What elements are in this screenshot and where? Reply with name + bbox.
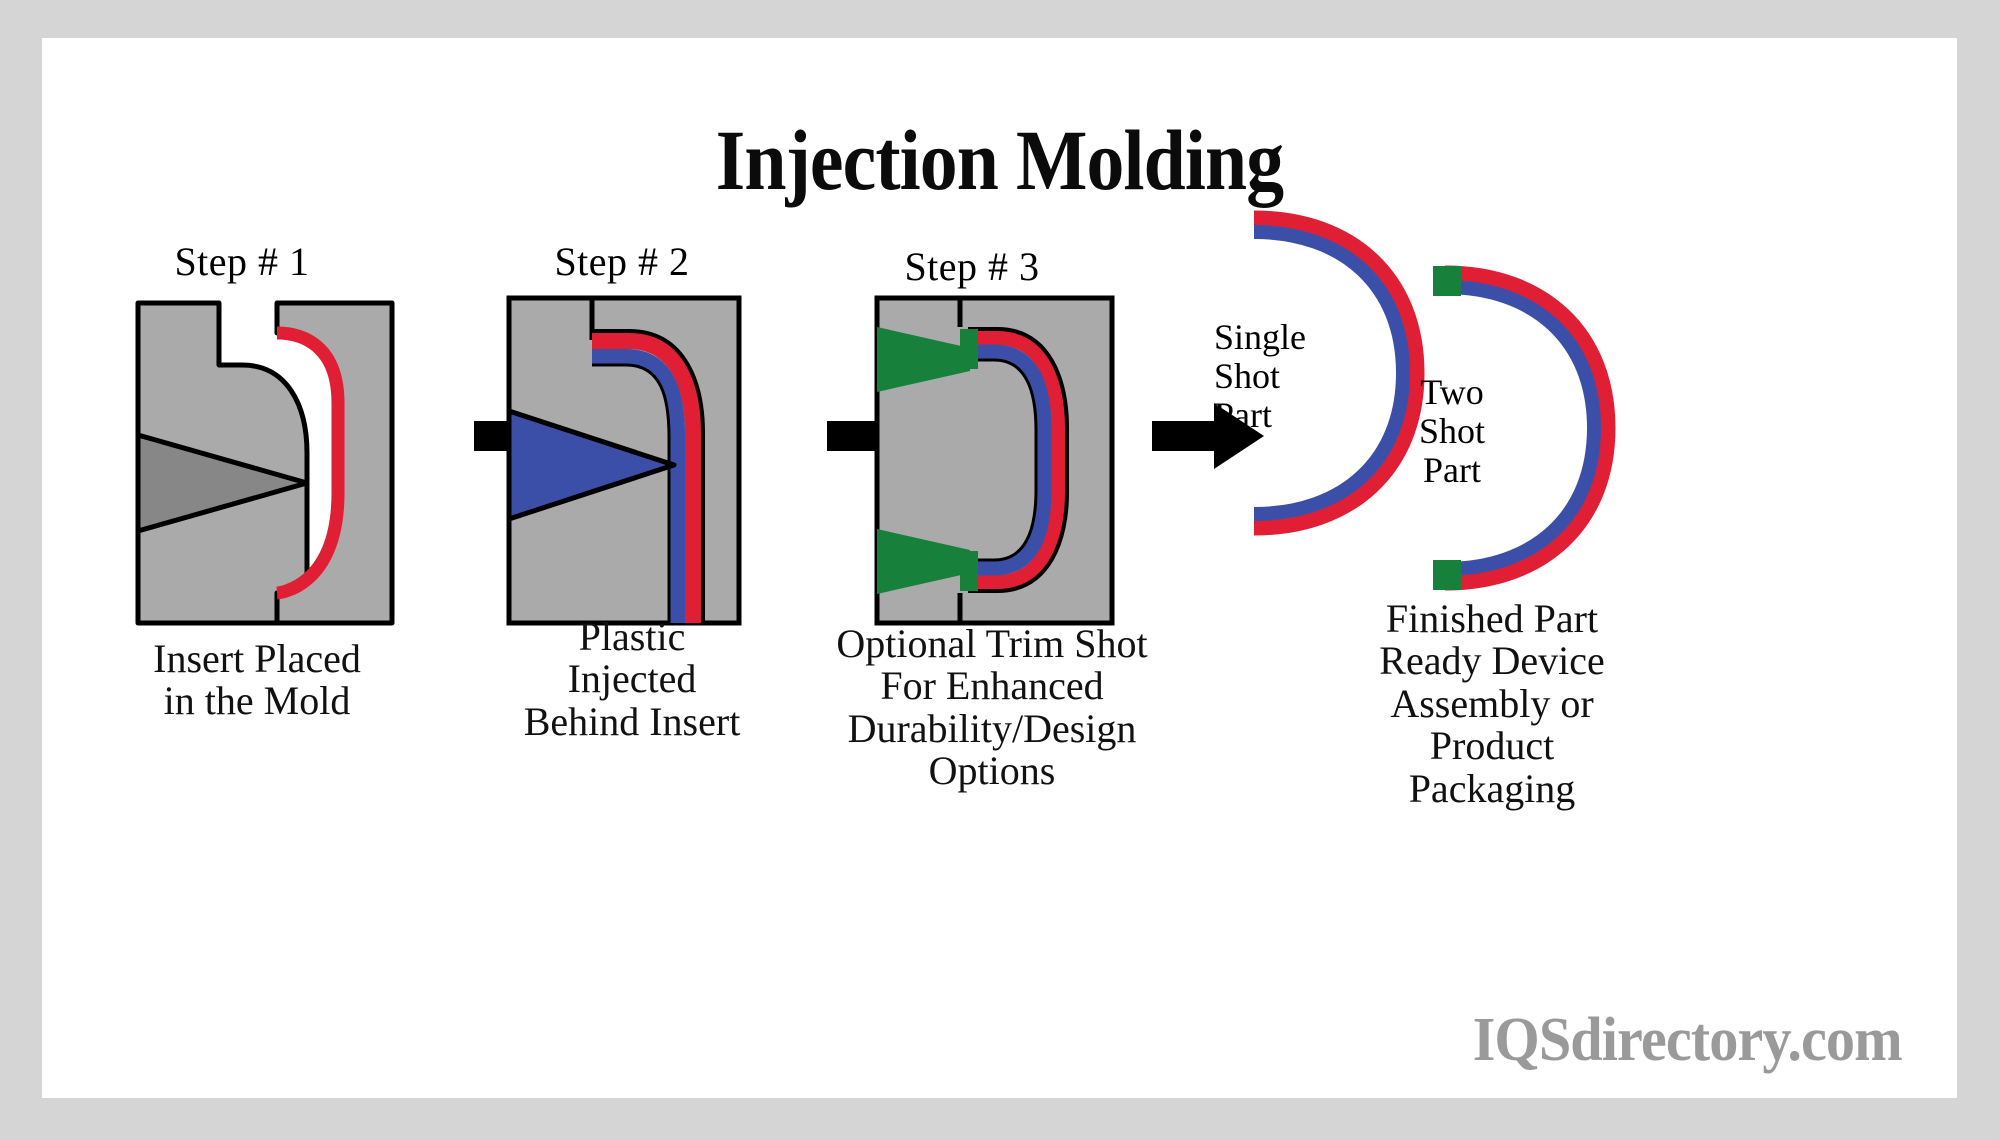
step-1-title: Step # 1 [102, 238, 382, 285]
step-1-caption: Insert Placed in the Mold [62, 638, 452, 723]
step-2-title: Step # 2 [482, 238, 762, 285]
green-trim-gate-top [960, 329, 978, 369]
watermark: IQSdirectory.com [1472, 1005, 1901, 1076]
diagram-panel: Injection Molding Step # 1 Insert Placed… [42, 38, 1957, 1098]
step-1-diagram [102, 293, 432, 653]
two-shot-part-label: Two Shot Part [1377, 373, 1527, 490]
step-2-caption: Plastic Injected Behind Insert [442, 616, 822, 743]
single-shot-part-label: Single Shot Part [1214, 318, 1384, 435]
two-shot-green-tip-bottom [1433, 560, 1461, 590]
two-shot-green-tip-top [1433, 266, 1461, 296]
green-trim-gate-bottom [960, 551, 978, 591]
step-3-title: Step # 3 [832, 243, 1112, 290]
step-3-caption: Optional Trim Shot For Enhanced Durabili… [782, 623, 1202, 793]
finished-parts-caption: Finished Part Ready Device Assembly or P… [1182, 598, 1802, 810]
step-2-diagram [504, 293, 744, 633]
page-title: Injection Molding [157, 110, 1842, 210]
step-3-diagram [872, 293, 1117, 633]
